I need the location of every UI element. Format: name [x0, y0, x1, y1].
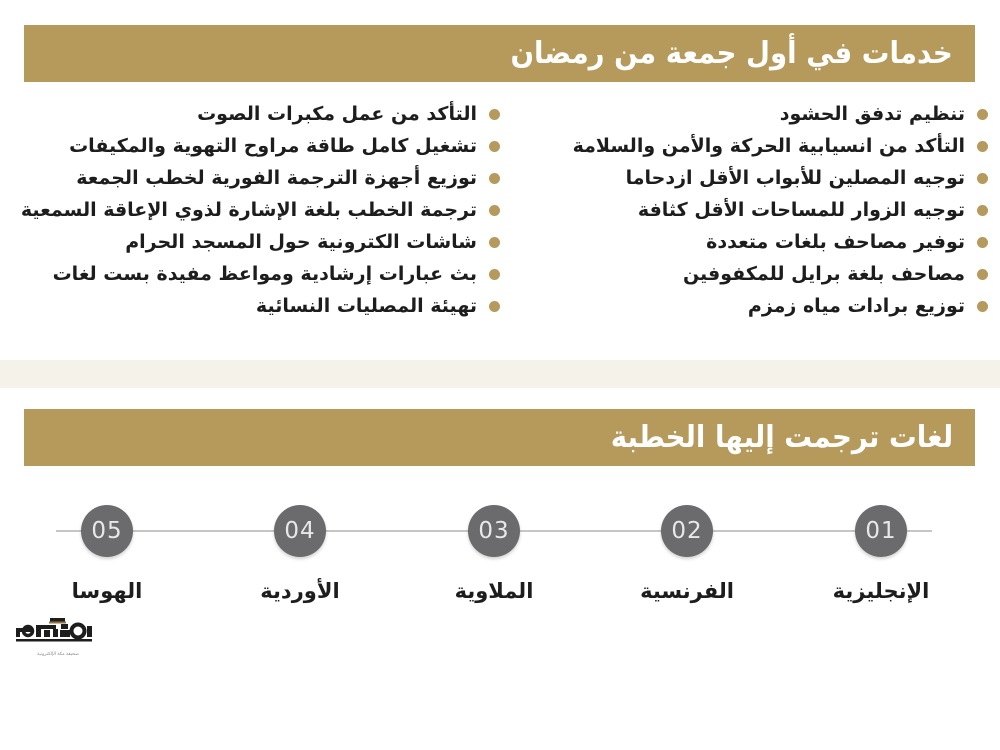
timeline-node-label: الهوسا	[47, 579, 167, 603]
timeline-node: 02الفرنسية	[627, 493, 747, 603]
logo-caption: صحيفة مكة الإلكترونية	[18, 652, 98, 657]
timeline-node-number: 03	[478, 518, 509, 544]
timeline-node-number: 05	[91, 518, 122, 544]
languages-timeline: 01الإنجليزية02الفرنسية03الملاوية04الأورد…	[0, 493, 1000, 623]
service-list-item: توزيع برادات مياه زمزم	[508, 290, 988, 322]
service-list-item: بث عبارات إرشادية ومواعظ مفيدة بست لغات	[20, 258, 500, 290]
timeline-node-number: 02	[671, 518, 702, 544]
languages-header-title: لغات ترجمت إليها الخطبة	[611, 423, 953, 453]
timeline-node-circle: 01	[855, 505, 907, 557]
logo-mark: صحيفة مكة الإلكترونية	[14, 612, 100, 650]
timeline-node-label: الفرنسية	[627, 579, 747, 603]
service-item-label: تهيئة المصليات النسائية	[256, 295, 477, 318]
service-list-item: ترجمة الخطب بلغة الإشارة لذوي الإعاقة ال…	[20, 194, 500, 226]
service-list-item: تشغيل كامل طاقة مراوح التهوية والمكيفات	[20, 130, 500, 162]
services-lists-area: تنظيم تدفق الحشودالتأكد من انسيابية الحر…	[0, 98, 1000, 348]
timeline-node-label: الملاوية	[434, 579, 554, 603]
service-list-item: توجيه الزوار للمساحات الأقل كثافة	[508, 194, 988, 226]
timeline-node-number: 01	[865, 518, 896, 544]
service-item-label: توزيع برادات مياه زمزم	[748, 295, 965, 318]
bullet-dot-icon	[489, 205, 500, 216]
bullet-dot-icon	[977, 173, 988, 184]
section-divider-band	[0, 360, 1000, 388]
bullet-dot-icon	[977, 205, 988, 216]
bullet-dot-icon	[977, 109, 988, 120]
bullet-dot-icon	[489, 301, 500, 312]
bullet-dot-icon	[489, 141, 500, 152]
timeline-node-circle: 04	[274, 505, 326, 557]
makkah-newspaper-logo: صحيفة مكة الإلكترونية	[10, 612, 100, 664]
timeline-node-circle: 02	[661, 505, 713, 557]
service-item-label: التأكد من انسيابية الحركة والأمن والسلام…	[573, 135, 965, 158]
service-list-item: شاشات الكترونية حول المسجد الحرام	[20, 226, 500, 258]
service-item-label: مصاحف بلغة برايل للمكفوفين	[683, 263, 965, 286]
service-item-label: توزيع أجهزة الترجمة الفورية لخطب الجمعة	[76, 167, 477, 190]
logo-wordmark-icon	[14, 618, 100, 644]
timeline-node: 01الإنجليزية	[821, 493, 941, 603]
services-header-title: خدمات في أول جمعة من رمضان	[511, 39, 953, 69]
service-item-label: التأكد من عمل مكبرات الصوت	[197, 103, 477, 126]
service-item-label: توجيه الزوار للمساحات الأقل كثافة	[638, 199, 965, 222]
service-list-item: التأكد من عمل مكبرات الصوت	[20, 98, 500, 130]
bullet-dot-icon	[977, 237, 988, 248]
service-item-label: شاشات الكترونية حول المسجد الحرام	[125, 231, 477, 254]
service-item-label: توفير مصاحف بلغات متعددة	[706, 231, 965, 254]
service-list-item: التأكد من انسيابية الحركة والأمن والسلام…	[508, 130, 988, 162]
service-list-item: تنظيم تدفق الحشود	[508, 98, 988, 130]
languages-section-header: لغات ترجمت إليها الخطبة	[24, 409, 975, 466]
timeline-node-label: الإنجليزية	[821, 579, 941, 603]
service-list-item: توفير مصاحف بلغات متعددة	[508, 226, 988, 258]
service-item-label: بث عبارات إرشادية ومواعظ مفيدة بست لغات	[53, 263, 477, 286]
services-right-column: تنظيم تدفق الحشودالتأكد من انسيابية الحر…	[508, 98, 988, 322]
timeline-node-circle: 03	[468, 505, 520, 557]
services-left-column: التأكد من عمل مكبرات الصوتتشغيل كامل طاق…	[20, 98, 500, 322]
timeline-node-label: الأوردية	[240, 579, 360, 603]
services-section-header: خدمات في أول جمعة من رمضان	[24, 25, 975, 82]
bullet-dot-icon	[977, 141, 988, 152]
bullet-dot-icon	[489, 269, 500, 280]
service-list-item: مصاحف بلغة برايل للمكفوفين	[508, 258, 988, 290]
service-item-label: تشغيل كامل طاقة مراوح التهوية والمكيفات	[69, 135, 477, 158]
timeline-node-number: 04	[284, 518, 315, 544]
timeline-node: 03الملاوية	[434, 493, 554, 603]
service-item-label: ترجمة الخطب بلغة الإشارة لذوي الإعاقة ال…	[21, 199, 477, 222]
service-item-label: تنظيم تدفق الحشود	[780, 103, 965, 126]
bullet-dot-icon	[489, 109, 500, 120]
bullet-dot-icon	[977, 301, 988, 312]
timeline-node-circle: 05	[81, 505, 133, 557]
timeline-node: 05الهوسا	[47, 493, 167, 603]
service-item-label: توجيه المصلين للأبواب الأقل ازدحاما	[626, 167, 965, 190]
service-list-item: توجيه المصلين للأبواب الأقل ازدحاما	[508, 162, 988, 194]
bullet-dot-icon	[489, 173, 500, 184]
bullet-dot-icon	[489, 237, 500, 248]
bullet-dot-icon	[977, 269, 988, 280]
timeline-node: 04الأوردية	[240, 493, 360, 603]
service-list-item: توزيع أجهزة الترجمة الفورية لخطب الجمعة	[20, 162, 500, 194]
service-list-item: تهيئة المصليات النسائية	[20, 290, 500, 322]
